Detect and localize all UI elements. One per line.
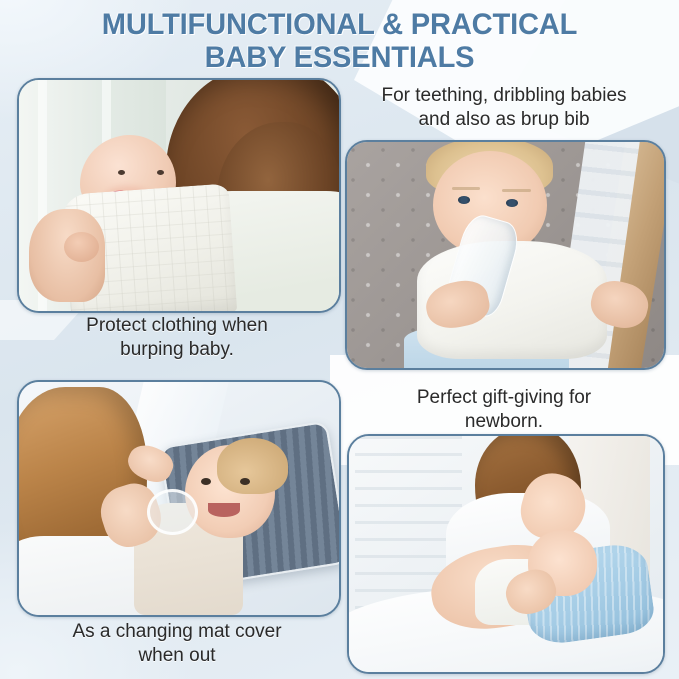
feature-photo-gift — [347, 434, 665, 674]
pacifier — [147, 489, 198, 535]
caption-gift: Perfect gift-giving for newborn. — [345, 386, 663, 434]
feature-photo-changing-mat — [17, 380, 341, 617]
caption-changing-mat: As a changing mat cover when out — [17, 620, 337, 668]
mother-shirt — [19, 536, 147, 615]
baby-eye-right — [506, 199, 518, 207]
photo-changing-mat — [19, 382, 339, 615]
caption-burping: Protect clothing when burping baby. — [17, 314, 337, 362]
photo-teething — [347, 142, 664, 368]
baby-brow-left — [452, 187, 481, 190]
photo-gift — [349, 436, 663, 672]
baby-hair — [217, 438, 287, 494]
baby-brow-right — [502, 189, 531, 192]
page-title: MULTIFUNCTIONAL & PRACTICAL BABY ESSENTI… — [10, 8, 669, 74]
baby-eye-right — [240, 478, 250, 485]
baby-eye-left — [201, 478, 211, 485]
product-infographic: MULTIFUNCTIONAL & PRACTICAL BABY ESSENTI… — [0, 0, 679, 679]
caption-teething: For teething, dribbling babies and also … — [345, 84, 663, 132]
photo-burping — [19, 80, 339, 311]
baby-eye-right — [157, 170, 164, 175]
baby-smile — [208, 503, 240, 517]
feature-photo-teething — [345, 140, 666, 370]
feature-photo-burping — [17, 78, 341, 313]
